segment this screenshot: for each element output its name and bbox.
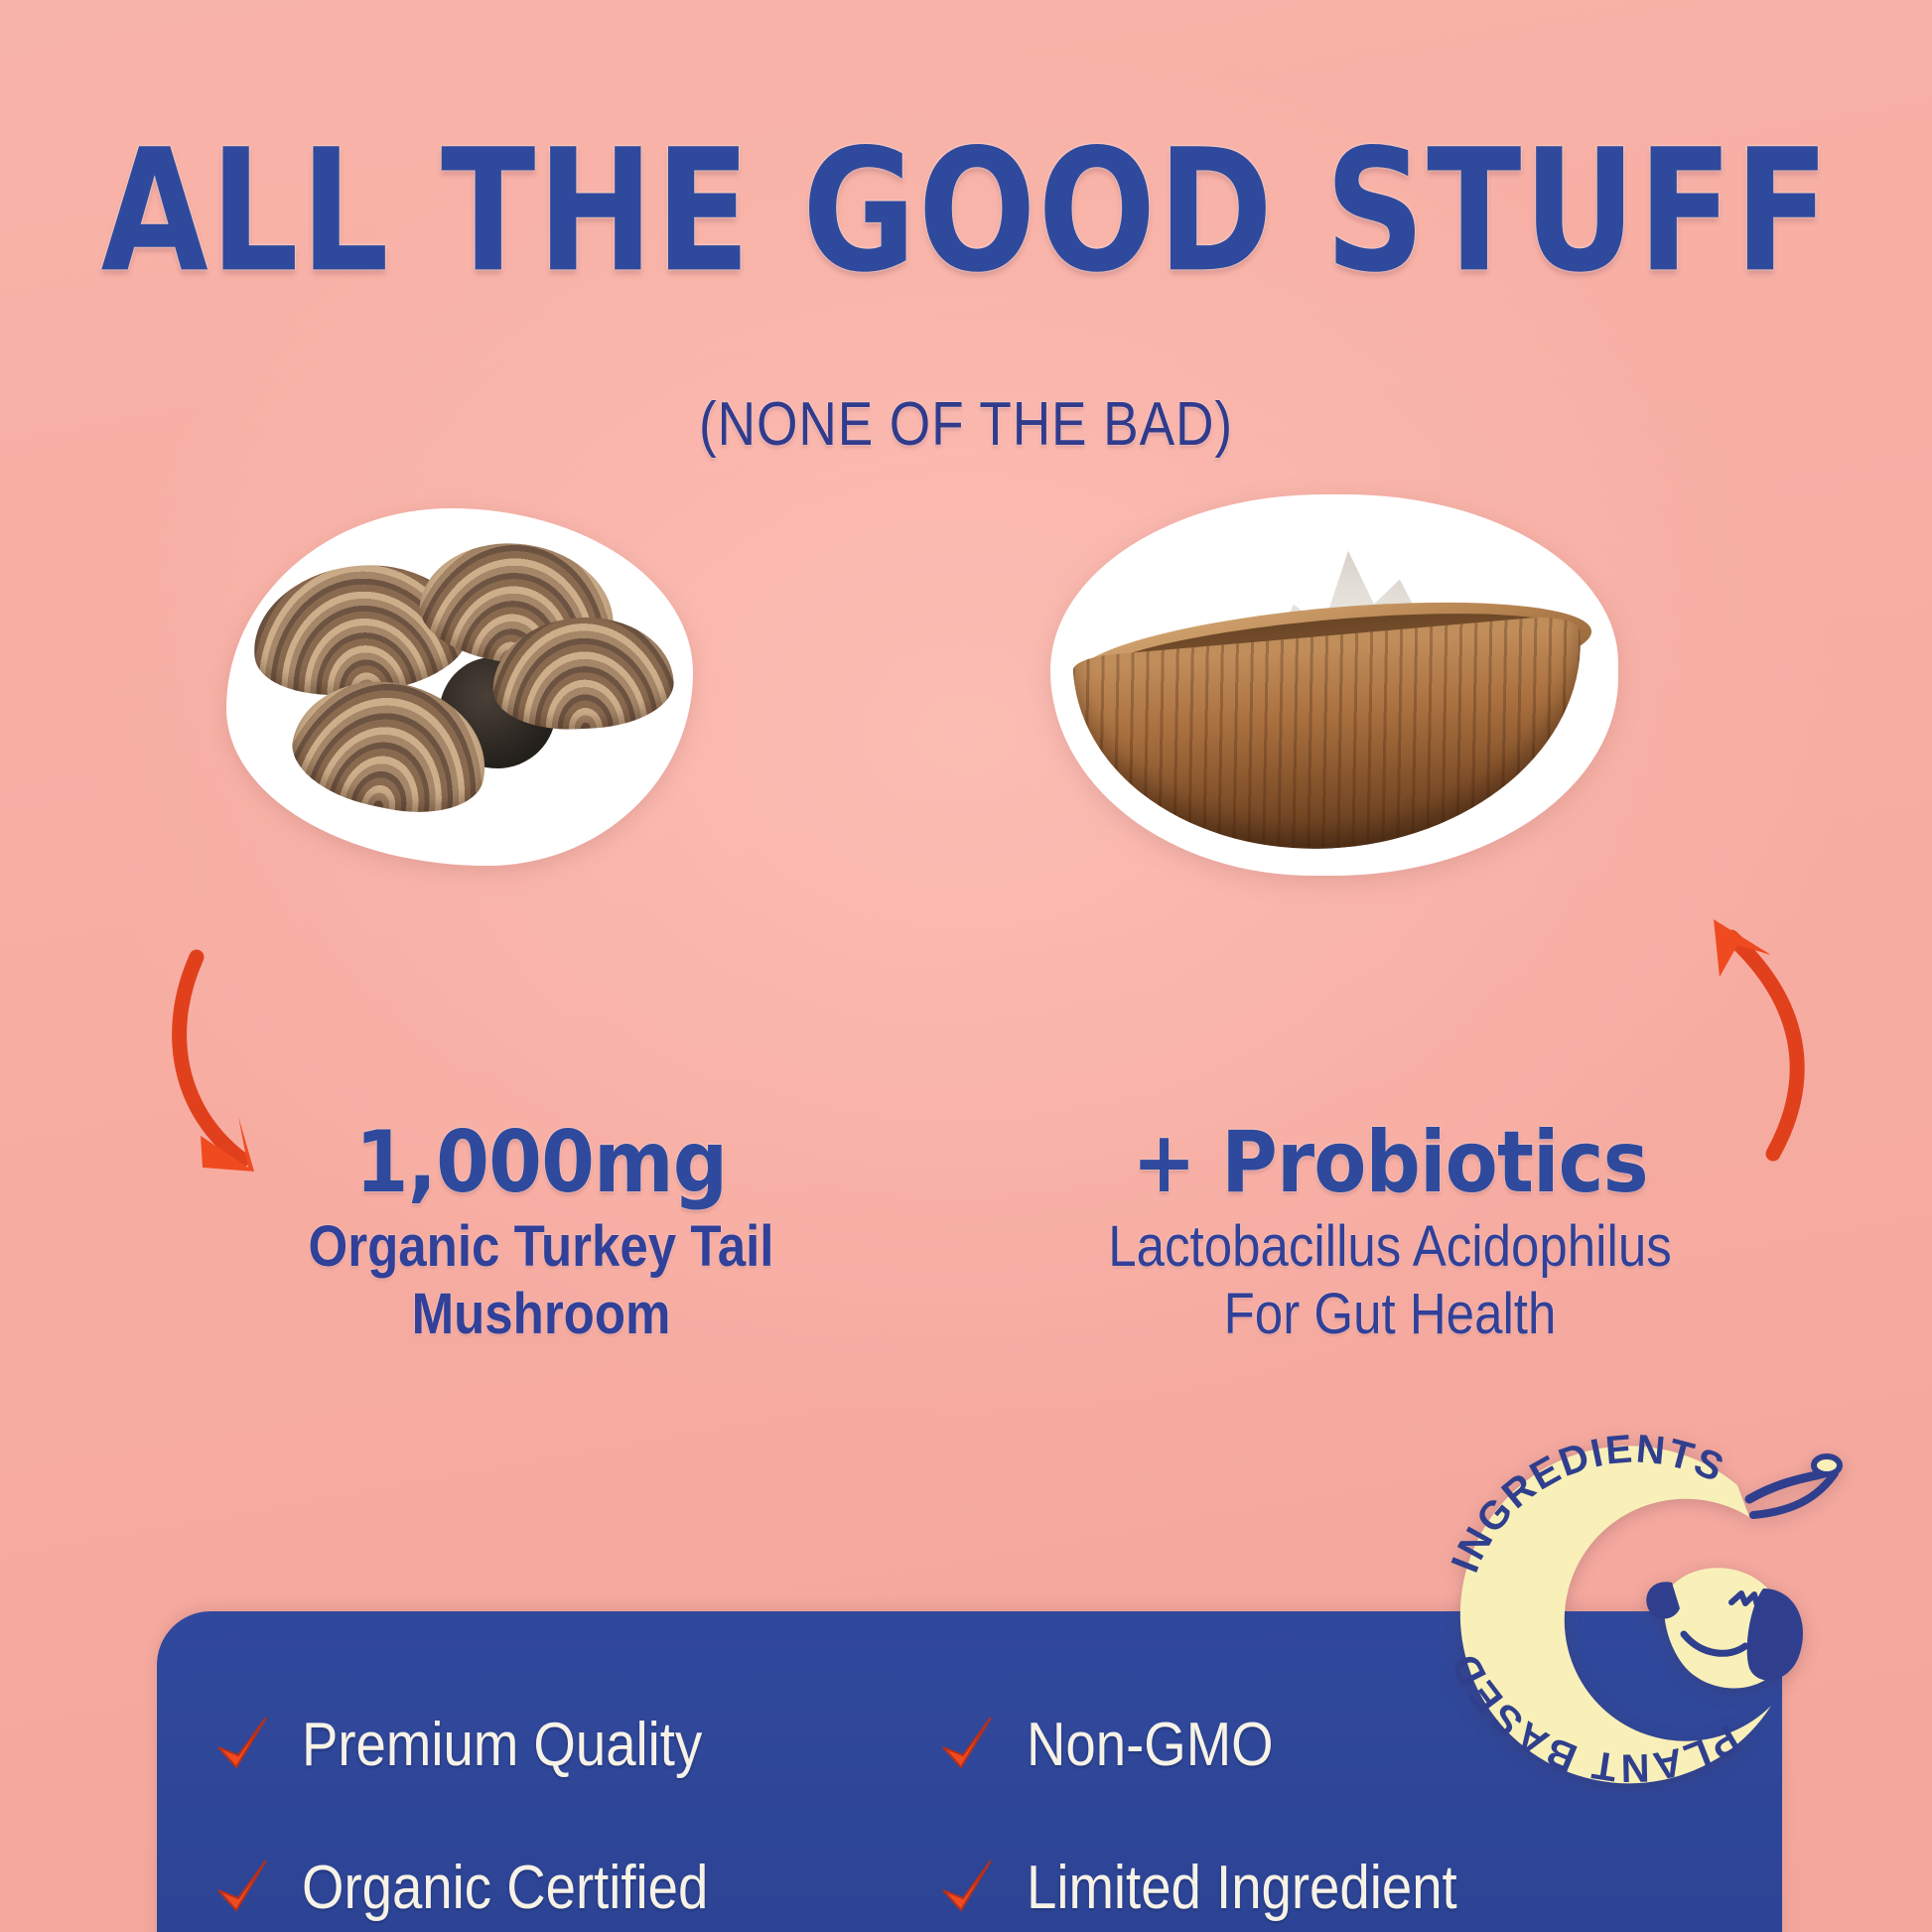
check-icon <box>937 1714 997 1775</box>
page-title: ALL THE GOOD STUFF <box>77 127 1855 296</box>
ingredient-description-line: Lactobacillus Acidophilus <box>1006 1213 1774 1281</box>
dog-tail-tip <box>1814 1456 1840 1474</box>
ingredient-amount: + Probiotics <box>997 1120 1783 1207</box>
ingredient-description: Organic Turkey Tail Mushroom <box>196 1213 886 1349</box>
product-infographic: ALL THE GOOD STUFF (NONE OF THE BAD) 1,0… <box>0 0 1932 1932</box>
ingredient-description-line: Organic Turkey Tail <box>196 1213 886 1281</box>
probiotic-powder-bowl-image <box>1076 516 1592 854</box>
check-icon <box>937 1857 997 1918</box>
ingredient-description-line: Mushroom <box>196 1281 886 1348</box>
plant-based-ingredients-badge: INGREDIENTS PLANT BASED <box>1422 1408 1849 1835</box>
page-subtitle: (NONE OF THE BAD) <box>135 389 1797 460</box>
claim-label: Organic Certified <box>302 1853 708 1923</box>
claim-label: Limited Ingredient <box>1027 1853 1457 1923</box>
ingredient-callout-mushroom: 1,000mg Organic Turkey Tail Mushroom <box>149 1120 933 1349</box>
claims-grid: Premium Quality Non-GMO Organic Certifie… <box>212 1673 1563 1932</box>
check-icon <box>212 1714 272 1775</box>
claim-label: Premium Quality <box>302 1710 702 1780</box>
claim-item: Organic Certified <box>212 1816 937 1932</box>
claim-label: Non-GMO <box>1027 1710 1274 1780</box>
ingredient-callout-probiotics: + Probiotics Lactobacillus Acidophilus F… <box>953 1120 1827 1349</box>
ingredient-description: Lactobacillus Acidophilus For Gut Health <box>1006 1213 1774 1349</box>
check-icon <box>212 1857 272 1918</box>
ingredient-amount: 1,000mg <box>189 1120 895 1207</box>
claim-item: Premium Quality <box>212 1673 937 1816</box>
turkey-tail-mushrooms-image <box>226 508 693 866</box>
dog-head-icon <box>1646 1568 1803 1688</box>
ingredient-description-line: For Gut Health <box>1006 1281 1774 1348</box>
